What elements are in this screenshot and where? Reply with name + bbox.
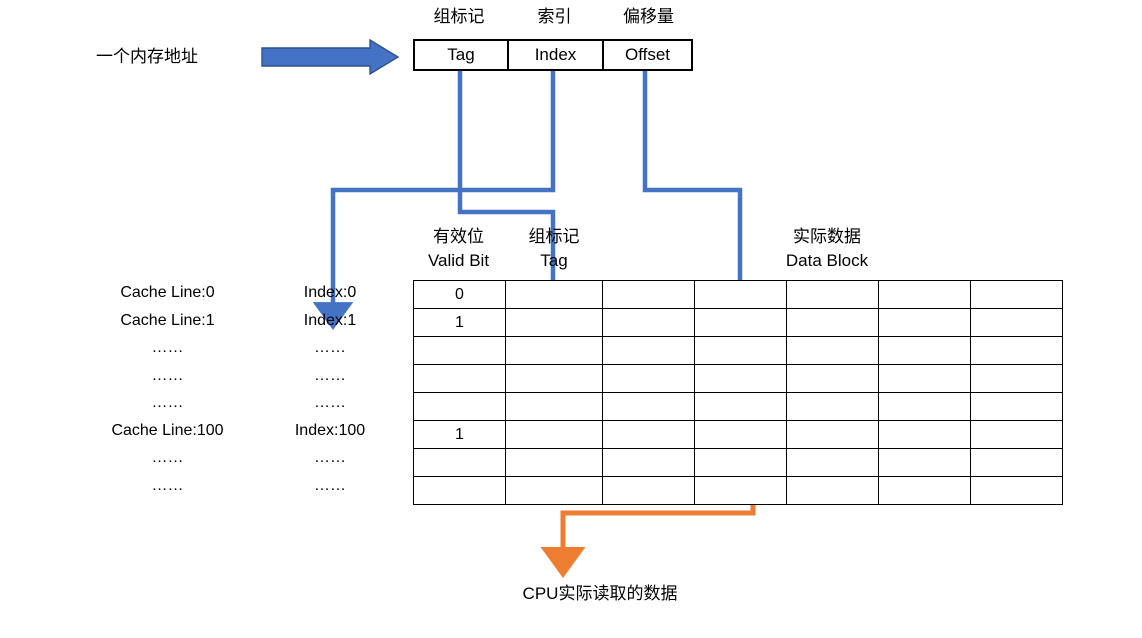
index-label-0: Index:0 (250, 282, 410, 304)
data-block-cell-1-3[interactable] (879, 309, 971, 337)
cache-table-row (414, 477, 1063, 505)
cache-table-row: 0 (414, 281, 1063, 309)
cache-line-label-0: Cache Line:0 (60, 282, 275, 304)
data-block-cell-2-2[interactable] (787, 337, 879, 365)
cache-table-row (414, 449, 1063, 477)
data-block-cell-1-2[interactable] (787, 309, 879, 337)
data-block-cell-7-0[interactable] (603, 477, 695, 505)
valid-bit-cell-4[interactable] (414, 393, 506, 421)
address-header-tag-cn: 组标记 (413, 6, 505, 27)
data-block-cell-7-2[interactable] (787, 477, 879, 505)
data-block-cell-1-1[interactable] (695, 309, 787, 337)
data-block-cell-7-4[interactable] (971, 477, 1063, 505)
cache-table-row (414, 393, 1063, 421)
data-block-cell-0-3[interactable] (879, 281, 971, 309)
data-block-cell-2-0[interactable] (603, 337, 695, 365)
index-label-6: …… (250, 447, 410, 469)
data-block-cell-4-0[interactable] (603, 393, 695, 421)
data-block-cell-0-4[interactable] (971, 281, 1063, 309)
tag-cell-7[interactable] (506, 477, 603, 505)
data-block-cell-2-4[interactable] (971, 337, 1063, 365)
cache-line-label-5: Cache Line:100 (60, 420, 275, 442)
data-block-cell-0-1[interactable] (695, 281, 787, 309)
cache-table-body: 011 (414, 281, 1063, 505)
data-block-cell-4-3[interactable] (879, 393, 971, 421)
data-block-cell-5-3[interactable] (879, 421, 971, 449)
data-block-cell-1-0[interactable] (603, 309, 695, 337)
cache-line-label-1: Cache Line:1 (60, 310, 275, 332)
data-block-cell-3-0[interactable] (603, 365, 695, 393)
valid-bit-cell-6[interactable] (414, 449, 506, 477)
data-block-cell-5-2[interactable] (787, 421, 879, 449)
valid-bit-cell-2[interactable] (414, 337, 506, 365)
cache-line-label-7: …… (60, 475, 275, 497)
memory-address-box: Tag Index Offset (413, 39, 693, 71)
address-header-index-cn: 索引 (507, 6, 602, 27)
index-connector (333, 71, 553, 312)
index-label-5: Index:100 (250, 420, 410, 442)
tag-cell-5[interactable] (506, 421, 603, 449)
index-label-7: …… (250, 475, 410, 497)
address-field-tag[interactable]: Tag (415, 41, 507, 69)
address-field-offset[interactable]: Offset (602, 41, 691, 69)
address-field-index[interactable]: Index (507, 41, 602, 69)
valid-bit-cell-5[interactable]: 1 (414, 421, 506, 449)
index-label-2: …… (250, 337, 410, 359)
header-tag-cn: 组标记 (506, 226, 602, 247)
data-block-cell-3-3[interactable] (879, 365, 971, 393)
valid-bit-cell-3[interactable] (414, 365, 506, 393)
data-block-cell-0-0[interactable] (603, 281, 695, 309)
data-block-cell-6-3[interactable] (879, 449, 971, 477)
data-block-cell-4-2[interactable] (787, 393, 879, 421)
tag-cell-0[interactable] (506, 281, 603, 309)
data-block-cell-3-1[interactable] (695, 365, 787, 393)
data-block-cell-6-1[interactable] (695, 449, 787, 477)
cache-line-label-4: …… (60, 392, 275, 414)
data-block-cell-5-4[interactable] (971, 421, 1063, 449)
valid-bit-cell-7[interactable] (414, 477, 506, 505)
tag-cell-1[interactable] (506, 309, 603, 337)
tag-cell-4[interactable] (506, 393, 603, 421)
cpu-read-data-label: CPU实际读取的数据 (440, 583, 760, 604)
address-header-offset-cn: 偏移量 (604, 6, 693, 27)
data-block-cell-3-2[interactable] (787, 365, 879, 393)
cache-line-label-2: …… (60, 337, 275, 359)
header-valid-bit-cn: 有效位 (413, 226, 504, 247)
data-block-cell-2-1[interactable] (695, 337, 787, 365)
memory-address-block-arrow (262, 40, 398, 74)
valid-bit-cell-0[interactable]: 0 (414, 281, 506, 309)
header-tag-en: Tag (506, 250, 602, 271)
index-label-1: Index:1 (250, 310, 410, 332)
index-label-4: …… (250, 392, 410, 414)
valid-bit-cell-1[interactable]: 1 (414, 309, 506, 337)
diagram-canvas: 一个内存地址 组标记 索引 偏移量 Tag Index Offset 有效位 V… (0, 0, 1142, 638)
data-block-cell-4-4[interactable] (971, 393, 1063, 421)
data-block-cell-4-1[interactable] (695, 393, 787, 421)
data-block-cell-1-4[interactable] (971, 309, 1063, 337)
data-block-cell-5-0[interactable] (603, 421, 695, 449)
data-block-cell-7-1[interactable] (695, 477, 787, 505)
data-block-cell-2-3[interactable] (879, 337, 971, 365)
index-label-3: …… (250, 365, 410, 387)
data-block-cell-7-3[interactable] (879, 477, 971, 505)
tag-connector (460, 71, 553, 314)
cache-table-row: 1 (414, 309, 1063, 337)
memory-address-label: 一个内存地址 (96, 46, 226, 67)
tag-cell-2[interactable] (506, 337, 603, 365)
data-block-cell-6-4[interactable] (971, 449, 1063, 477)
header-valid-bit-en: Valid Bit (413, 250, 504, 271)
cache-table-row (414, 365, 1063, 393)
data-block-cell-6-0[interactable] (603, 449, 695, 477)
cache-table: 011 (413, 280, 1063, 505)
data-block-cell-0-2[interactable] (787, 281, 879, 309)
data-block-cell-3-4[interactable] (971, 365, 1063, 393)
header-data-block-cn: 实际数据 (736, 226, 918, 247)
cache-line-label-3: …… (60, 365, 275, 387)
data-block-cell-6-2[interactable] (787, 449, 879, 477)
tag-cell-6[interactable] (506, 449, 603, 477)
tag-cell-3[interactable] (506, 365, 603, 393)
cache-line-label-6: …… (60, 447, 275, 469)
cache-table-row (414, 337, 1063, 365)
header-data-block-en: Data Block (736, 250, 918, 271)
cache-table-row: 1 (414, 421, 1063, 449)
data-block-cell-5-1[interactable] (695, 421, 787, 449)
